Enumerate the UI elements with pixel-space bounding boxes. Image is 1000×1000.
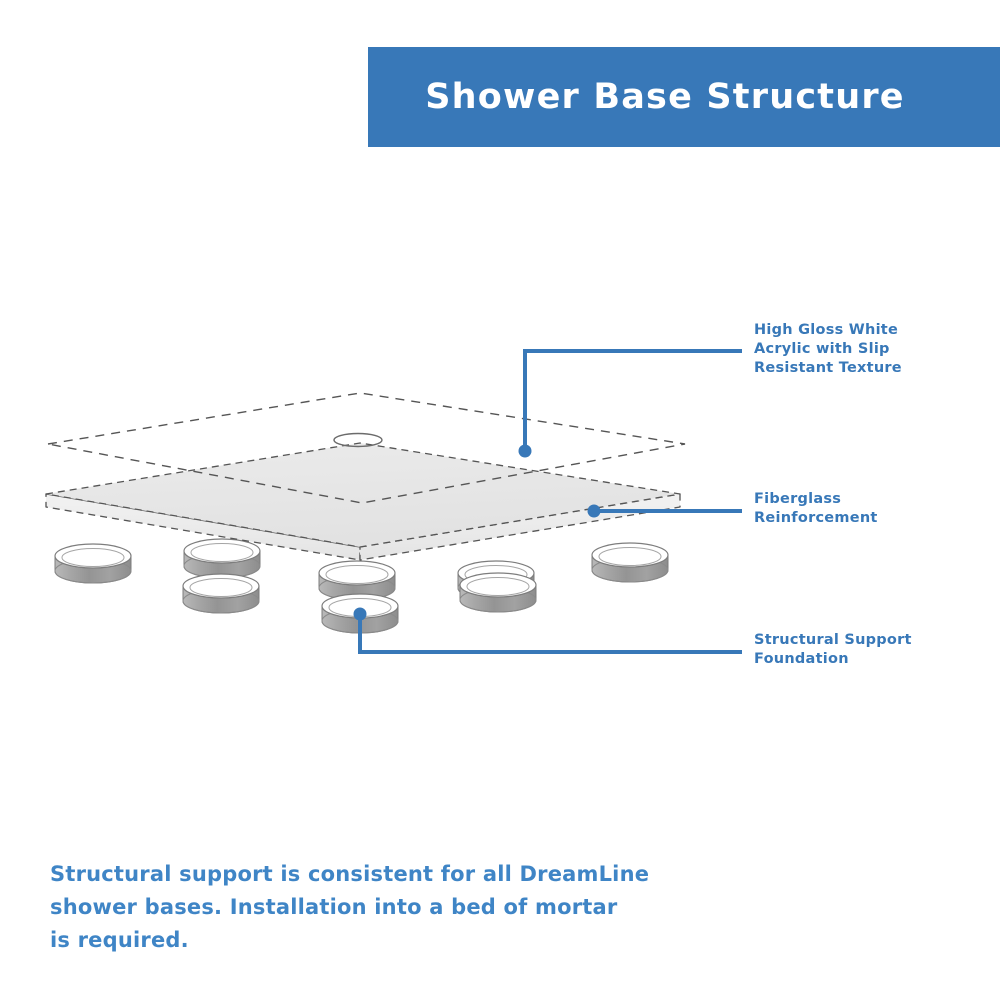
footer-note: Structural support is consistent for all… (50, 858, 690, 957)
callout-label-fiberglass: Fiberglass Reinforcement (754, 490, 989, 528)
slab-top-face (46, 443, 680, 547)
infographic-page: Shower Base Structure (0, 0, 1000, 1000)
callout-dot-support (354, 608, 367, 621)
callout-label-acrylic: High Gloss White Acrylic with Slip Resis… (754, 321, 989, 378)
callout-line-support (360, 614, 742, 652)
support-ring (55, 544, 131, 583)
support-ring (592, 543, 668, 582)
support-ring (184, 539, 260, 578)
callout-label-support: Structural Support Foundation (754, 631, 989, 669)
callout-dot-fiberglass (588, 505, 601, 518)
fiberglass-slab (46, 443, 680, 560)
support-ring (183, 574, 259, 613)
support-ring (460, 573, 536, 612)
callout-dot-acrylic (519, 445, 532, 458)
